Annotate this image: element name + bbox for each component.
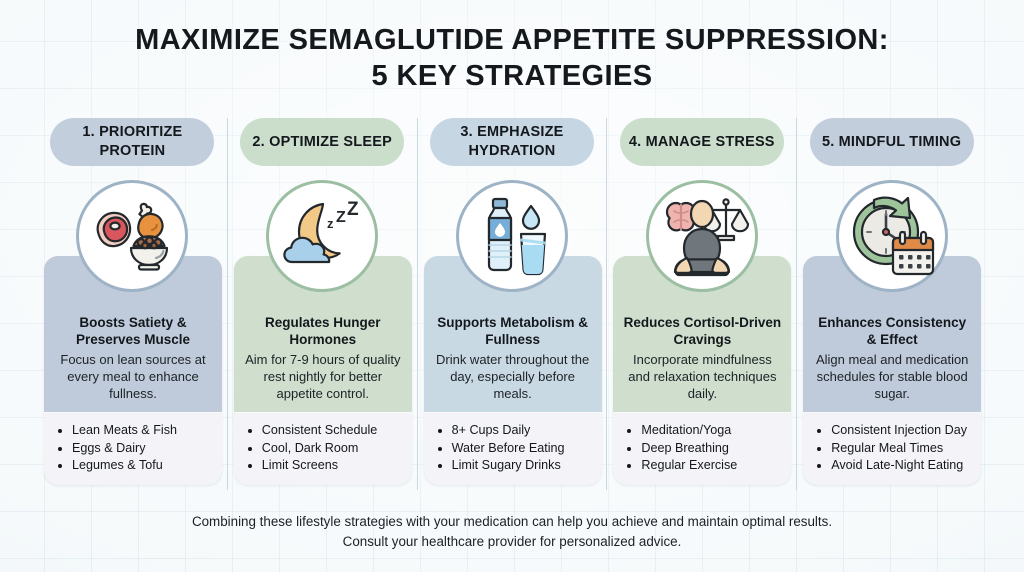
protein-meat-icon-container bbox=[76, 180, 188, 292]
strategy-header-pill-3[interactable]: 3. EMPHASIZE HYDRATION bbox=[430, 118, 594, 166]
infographic-canvas: MAXIMIZE SEMAGLUTIDE APPETITE SUPPRESSIO… bbox=[0, 0, 1024, 572]
list-item: Regular Meal Times bbox=[831, 440, 973, 458]
list-item: Limit Screens bbox=[262, 457, 404, 475]
list-item: Deep Breathing bbox=[641, 440, 783, 458]
list-item: Consistent Injection Day bbox=[831, 422, 973, 440]
card-bullet-list: Meditation/YogaDeep BreathingRegular Exe… bbox=[613, 412, 791, 485]
card-headline: Enhances Consistency & Effect bbox=[812, 314, 972, 348]
title-line-1: MAXIMIZE SEMAGLUTIDE APPETITE SUPPRESSIO… bbox=[0, 22, 1024, 58]
card-bullet-list: Lean Meats & FishEggs & DairyLegumes & T… bbox=[44, 412, 222, 485]
protein-meat-icon bbox=[84, 188, 180, 284]
strategy-header-pill-4[interactable]: 4. MANAGE STRESS bbox=[620, 118, 784, 166]
page-title: MAXIMIZE SEMAGLUTIDE APPETITE SUPPRESSIO… bbox=[0, 22, 1024, 94]
stress-meditation-icon-container bbox=[646, 180, 758, 292]
hydration-water-icon-container bbox=[456, 180, 568, 292]
list-item: Avoid Late-Night Eating bbox=[831, 457, 973, 475]
strategy-column-3: Supports Metabolism & Fullness Drink wat… bbox=[418, 118, 607, 498]
timing-clock-calendar-icon-container bbox=[836, 180, 948, 292]
list-item: Eggs & Dairy bbox=[72, 440, 214, 458]
strategy-header-pill-5[interactable]: 5. MINDFUL TIMING bbox=[810, 118, 974, 166]
card-headline: Regulates Hunger Hormones bbox=[243, 314, 403, 348]
sleep-moon-icon-container: z Z Z bbox=[266, 180, 378, 292]
strategy-header-label: 3. EMPHASIZE HYDRATION bbox=[436, 123, 588, 161]
card-headline: Reduces Cortisol-Driven Cravings bbox=[622, 314, 782, 348]
footer-line-2: Consult your healthcare provider for per… bbox=[0, 532, 1024, 552]
card-description: Align meal and medication schedules for … bbox=[812, 351, 972, 402]
strategy-header-pill-2[interactable]: 2. OPTIMIZE SLEEP bbox=[240, 118, 404, 166]
strategy-column-2: Regulates Hunger Hormones Aim for 7-9 ho… bbox=[228, 118, 417, 498]
list-item: Limit Sugary Drinks bbox=[452, 457, 594, 475]
title-line-2: 5 KEY STRATEGIES bbox=[0, 58, 1024, 94]
list-item: Consistent Schedule bbox=[262, 422, 404, 440]
svg-text:Z: Z bbox=[336, 209, 346, 226]
strategy-column-1: Boosts Satiety & Preserves Muscle Focus … bbox=[38, 118, 227, 498]
svg-text:Z: Z bbox=[347, 199, 359, 220]
strategy-column-5: Enhances Consistency & Effect Align meal… bbox=[797, 118, 986, 498]
strategy-header-pill-1[interactable]: 1. PRIORITIZE PROTEIN bbox=[50, 118, 214, 166]
card-bullet-list: 8+ Cups DailyWater Before EatingLimit Su… bbox=[424, 412, 602, 485]
timing-clock-calendar-icon bbox=[844, 188, 940, 284]
card-bullet-list: Consistent ScheduleCool, Dark RoomLimit … bbox=[234, 412, 412, 485]
card-description: Aim for 7-9 hours of quality rest nightl… bbox=[243, 351, 403, 402]
list-item: Lean Meats & Fish bbox=[72, 422, 214, 440]
card-headline: Supports Metabolism & Fullness bbox=[433, 314, 593, 348]
footer-note: Combining these lifestyle strategies wit… bbox=[0, 512, 1024, 552]
card-bullet-list: Consistent Injection DayRegular Meal Tim… bbox=[803, 412, 981, 485]
card-description: Drink water throughout the day, especial… bbox=[433, 351, 593, 402]
list-item: Meditation/Yoga bbox=[641, 422, 783, 440]
strategy-header-label: 2. OPTIMIZE SLEEP bbox=[252, 133, 392, 152]
list-item: Cool, Dark Room bbox=[262, 440, 404, 458]
stress-meditation-icon bbox=[654, 188, 750, 284]
card-headline: Boosts Satiety & Preserves Muscle bbox=[53, 314, 213, 348]
strategy-header-label: 4. MANAGE STRESS bbox=[629, 133, 775, 152]
card-description: Focus on lean sources at every meal to e… bbox=[53, 351, 213, 402]
card-description: Incorporate mindfulness and relaxation t… bbox=[622, 351, 782, 402]
list-item: Regular Exercise bbox=[641, 457, 783, 475]
strategy-columns: Boosts Satiety & Preserves Muscle Focus … bbox=[38, 118, 986, 498]
strategy-header-label: 5. MINDFUL TIMING bbox=[822, 133, 961, 152]
footer-line-1: Combining these lifestyle strategies wit… bbox=[0, 512, 1024, 532]
hydration-water-icon bbox=[464, 188, 560, 284]
strategy-column-4: Reduces Cortisol-Driven Cravings Incorpo… bbox=[607, 118, 796, 498]
list-item: Water Before Eating bbox=[452, 440, 594, 458]
svg-text:z: z bbox=[327, 216, 334, 231]
strategy-header-label: 1. PRIORITIZE PROTEIN bbox=[56, 123, 208, 161]
list-item: Legumes & Tofu bbox=[72, 457, 214, 475]
sleep-moon-icon: z Z Z bbox=[274, 188, 370, 284]
list-item: 8+ Cups Daily bbox=[452, 422, 594, 440]
